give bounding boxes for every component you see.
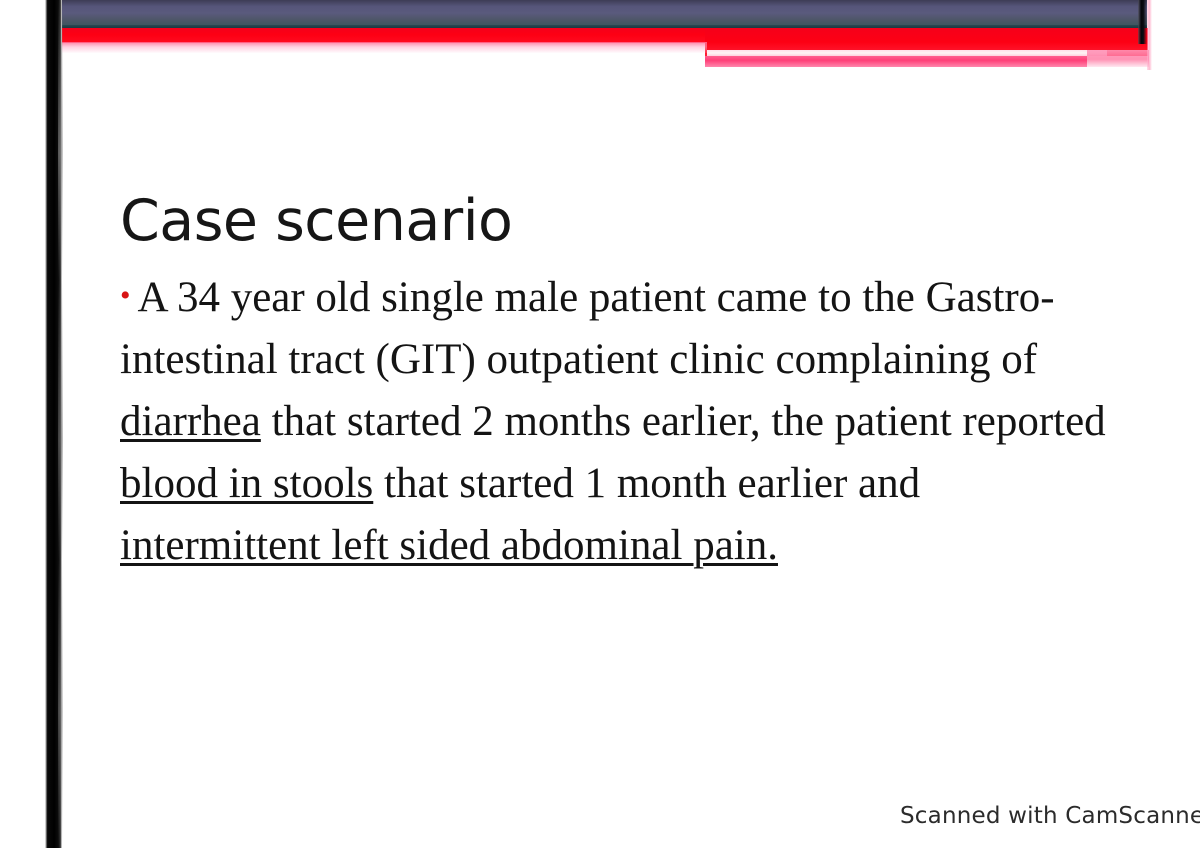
bullet-point-icon: • [120, 279, 131, 312]
banner-pink-bar-tail [1087, 50, 1149, 67]
scan-edge-right-black [1138, 0, 1147, 44]
emphasised-term: intermittent left sided abdominal pain. [120, 522, 778, 569]
body-text-run: that started 2 months earlier, the patie… [261, 398, 1106, 445]
banner-pink-halo [55, 42, 707, 53]
slide-body-paragraph: •A 34 year old single male patient came … [120, 265, 1110, 577]
slide-canvas: Case scenario •A 34 year old single male… [0, 0, 1200, 848]
scan-edge-right-pink [1147, 0, 1152, 70]
body-text-run: that started 1 month earlier and [373, 460, 920, 507]
body-text-run: A 34 year old single male patient came t… [120, 274, 1055, 383]
emphasised-term: diarrhea [120, 398, 261, 445]
camscanner-watermark: Scanned with CamScanner [900, 803, 1200, 829]
banner-dark-band [55, 0, 1147, 29]
slide-body-text: A 34 year old single male patient came t… [120, 274, 1106, 569]
scan-edge-left-streak [58, 0, 63, 848]
banner-pink-bar [705, 56, 1087, 67]
emphasised-term: blood in stools [120, 460, 373, 507]
banner-red-band-left [55, 28, 707, 43]
slide-title: Case scenario [120, 188, 512, 254]
